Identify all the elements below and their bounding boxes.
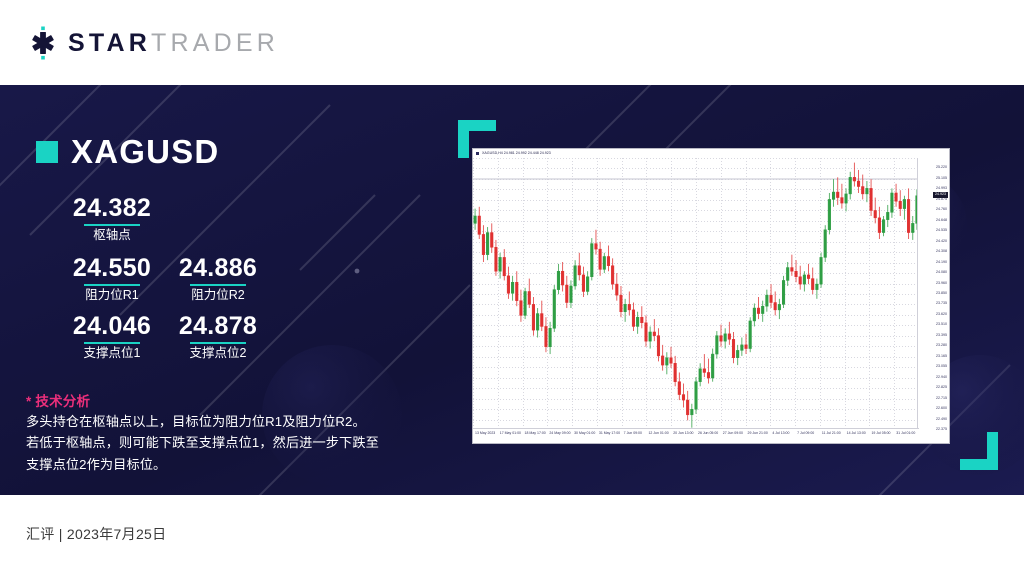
price-tick-label: 25.330 (936, 158, 947, 160)
stat-label: 阻力位R2 (158, 289, 278, 303)
symbol-bullet-icon (36, 141, 58, 163)
price-tick-label: 23.510 (936, 323, 947, 327)
time-tick-label: 19 Jul 05:00 (871, 432, 890, 436)
price-tick-label: 22.940 (936, 376, 947, 380)
price-tick-label: 24.080 (936, 271, 947, 275)
analysis-line-3: 支撑点位2作为目标位。 (26, 454, 401, 475)
analysis-body: 多头持仓在枢轴点以上，目标位为阻力位R1及阻力位R2。 若低于枢轴点，则可能下跌… (26, 411, 401, 475)
chart-marker-icon (476, 152, 479, 155)
price-tick-label: 22.375 (936, 428, 947, 430)
time-tick-label: 27 Jun 09:00 (723, 432, 743, 436)
time-tick-label: 18 May 17:00 (525, 432, 546, 436)
time-tick-label: 17 May 01:00 (500, 432, 521, 436)
time-tick-label: 26 Jun 05:00 (698, 432, 718, 436)
footer-text: 汇评 | 2023年7月25日 (26, 524, 166, 544)
brand-star: STAR (68, 29, 151, 57)
time-tick-label: 20 Jun 13:00 (673, 432, 693, 436)
time-tick-label: 12 Jun 01:00 (648, 432, 668, 436)
price-chart[interactable]: XAGUSD,H4 24.981 24.992 24.448 24.923 25… (472, 148, 950, 444)
time-tick-label: 24 May 09:00 (549, 432, 570, 436)
stat-pivot: 24.382 枢轴点 (52, 195, 172, 243)
price-tick-label: 24.993 (936, 187, 947, 191)
stat-value: 24.550 (52, 255, 172, 281)
corner-bracket-bottom-right (960, 432, 998, 470)
stat-support-1: 24.046 支撑点位1 (52, 313, 172, 361)
footer-bar: 汇评 | 2023年7月25日 (0, 495, 1024, 576)
poster-canvas: STARTRADER (0, 0, 1024, 576)
price-tick-label: 24.875 (936, 198, 947, 202)
stat-value: 24.046 (52, 313, 172, 339)
stat-label: 阻力位R1 (52, 289, 172, 303)
chart-time-axis: 13 May 202317 May 01:0018 May 17:0024 Ma… (473, 428, 919, 443)
header-bar: STARTRADER (0, 0, 1024, 85)
chart-plot-area (473, 158, 919, 430)
time-tick-label: 31 Jul 01:00 (896, 432, 915, 436)
price-tick-label: 25.220 (936, 166, 947, 170)
price-tick-label: 23.395 (936, 334, 947, 338)
price-tick-label: 22.490 (936, 418, 947, 422)
price-tick-label: 22.825 (936, 386, 947, 390)
price-tick-label: 24.535 (936, 229, 947, 233)
price-tick-label: 24.308 (936, 250, 947, 254)
stat-underline (84, 284, 140, 286)
time-tick-label: 29 Jun 21:00 (748, 432, 768, 436)
stat-value: 24.382 (52, 195, 172, 221)
price-tick-label: 23.735 (936, 302, 947, 306)
stat-value: 24.886 (158, 255, 278, 281)
chart-price-axis: 25.33025.22025.10524.99324.87524.76024.6… (917, 158, 949, 430)
time-tick-label: 7 Jun 09:00 (624, 432, 642, 436)
time-tick-label: 11 Jul 21:00 (822, 432, 841, 436)
stat-resistance-2: 24.886 阻力位R2 (158, 255, 278, 303)
stat-resistance-1: 24.550 阻力位R1 (52, 255, 172, 303)
stat-label: 支撑点位2 (158, 347, 278, 361)
chart-title: XAGUSD,H4 24.981 24.992 24.448 24.923 (482, 152, 551, 156)
time-tick-label: 14 Jul 13:00 (847, 432, 866, 436)
symbol-name: XAGUSD (71, 135, 219, 168)
time-tick-label: 7 Jul 09:00 (797, 432, 814, 436)
price-tick-label: 24.760 (936, 208, 947, 212)
stat-underline (84, 342, 140, 344)
price-tick-label: 23.280 (936, 344, 947, 348)
time-tick-label: 30 May 01:00 (574, 432, 595, 436)
price-tick-label: 24.420 (936, 240, 947, 244)
stat-label: 支撑点位1 (52, 347, 172, 361)
stat-support-2: 24.878 支撑点位2 (158, 313, 278, 361)
price-tick-label: 23.165 (936, 355, 947, 359)
analysis-heading: * 技术分析 (26, 390, 90, 410)
price-tick-label: 24.190 (936, 261, 947, 265)
price-tick-label: 23.850 (936, 292, 947, 296)
asterisk-logo-icon (26, 26, 60, 60)
price-tick-label: 25.105 (936, 177, 947, 181)
brand-wordmark: STARTRADER (68, 31, 279, 56)
stat-underline (190, 342, 246, 344)
analysis-line-1: 多头持仓在枢轴点以上，目标位为阻力位R1及阻力位R2。 (26, 411, 401, 432)
stat-value: 24.878 (158, 313, 278, 339)
symbol-title-row: XAGUSD (36, 135, 219, 168)
analysis-line-2: 若低于枢轴点，则可能下跌至支撑点位1，然后进一步下跌至 (26, 432, 401, 453)
time-tick-label: 31 May 17:00 (599, 432, 620, 436)
price-tick-label: 23.055 (936, 365, 947, 369)
stat-underline (84, 224, 140, 226)
time-tick-label: 4 Jul 13:00 (772, 432, 789, 436)
price-tick-label: 22.600 (936, 407, 947, 411)
price-tick-label: 24.648 (936, 219, 947, 223)
brand-logo[interactable]: STARTRADER (26, 26, 279, 60)
price-tick-label: 23.620 (936, 313, 947, 317)
price-tick-label: 22.715 (936, 397, 947, 401)
stat-underline (190, 284, 246, 286)
brand-trader: TRADER (151, 29, 279, 57)
left-info-panel: XAGUSD 24.382 枢轴点 24.550 阻力位R1 24.886 阻力… (0, 85, 440, 495)
time-tick-label: 13 May 2023 (475, 432, 495, 436)
price-tick-label: 23.960 (936, 282, 947, 286)
current-price-tag: 24.923 (933, 192, 948, 198)
chart-title-bar: XAGUSD,H4 24.981 24.992 24.448 24.923 (473, 149, 949, 158)
stat-label: 枢轴点 (52, 229, 172, 243)
